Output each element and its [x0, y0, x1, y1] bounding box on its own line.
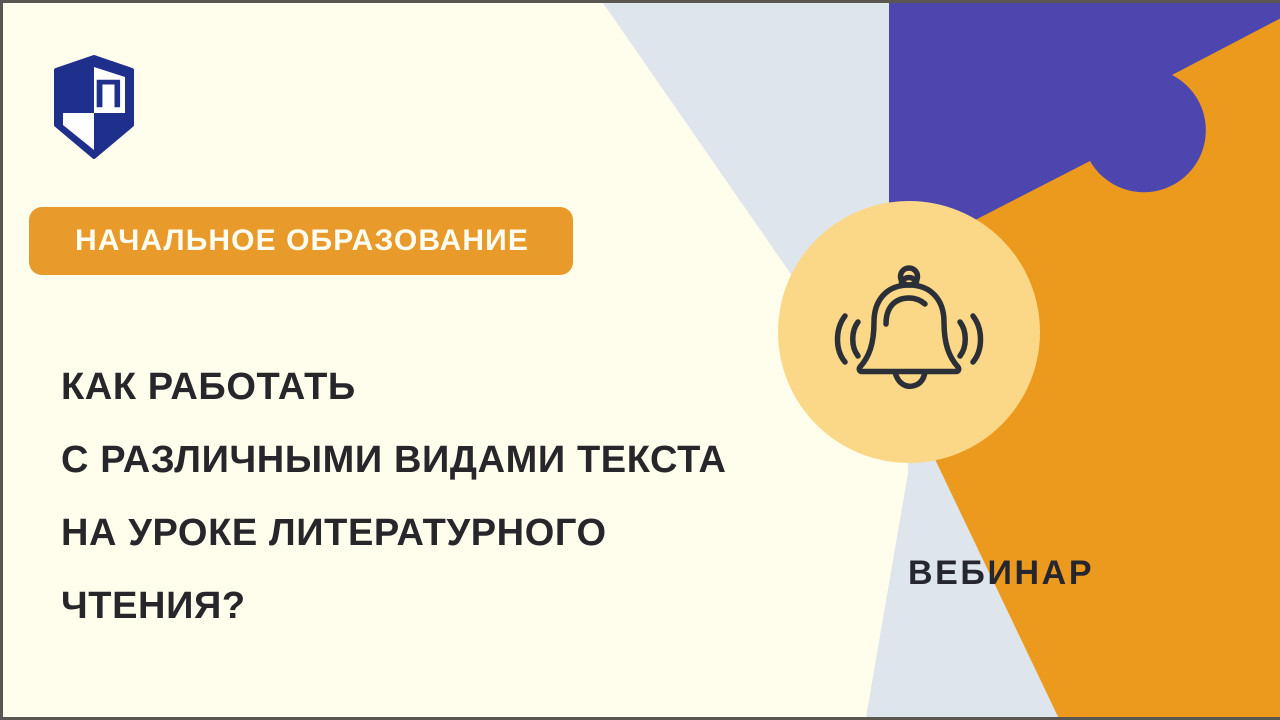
category-badge: НАЧАЛЬНОЕ ОБРАЗОВАНИЕ: [29, 207, 573, 275]
title-line-3: НА УРОКЕ ЛИТЕРАТУРНОГО: [61, 497, 861, 570]
title-line-2: С РАЗЛИЧНЫМИ ВИДАМИ ТЕКСТА: [61, 424, 861, 497]
webinar-type-label: ВЕБИНАР: [908, 556, 1094, 590]
bell-sound-arc-right-inner: [960, 322, 965, 356]
title-line-4: ЧТЕНИЯ?: [61, 570, 861, 643]
webinar-title-slide: ИП НАЧАЛЬНОЕ ОБРАЗОВАНИЕ КАК РАБОТАТЬ С …: [0, 0, 1280, 720]
ip-shield-logo: ИП: [53, 55, 135, 159]
bell-sound-arc-right-outer: [973, 316, 981, 362]
webinar-type-text: ВЕБИНАР: [908, 554, 1094, 592]
logo-letters: ИП: [65, 72, 123, 116]
bell-inner-arc: [886, 298, 925, 324]
page-title: КАК РАБОТАТЬ С РАЗЛИЧНЫМИ ВИДАМИ ТЕКСТА …: [61, 351, 861, 643]
title-line-1: КАК РАБОТАТЬ: [61, 351, 861, 424]
category-badge-label: НАЧАЛЬНОЕ ОБРАЗОВАНИЕ: [75, 226, 529, 256]
